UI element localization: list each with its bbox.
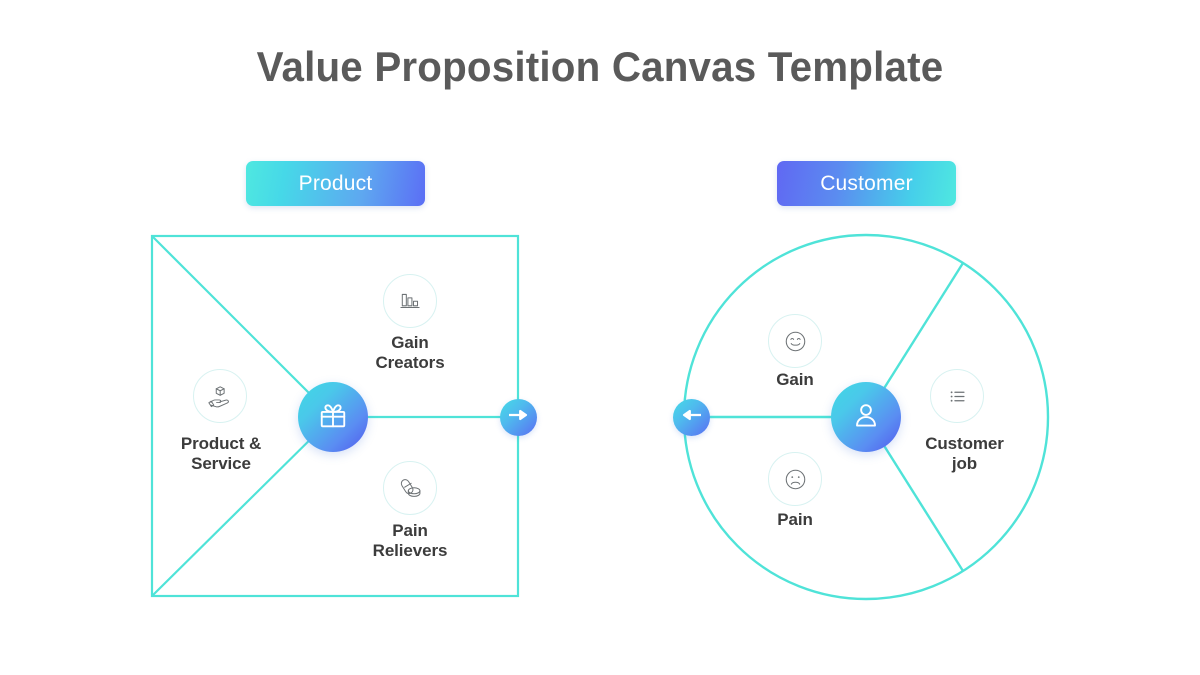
list-icon — [944, 383, 971, 410]
label-customer-job-line2: job — [886, 454, 1043, 474]
label-product-service: Product & Service — [141, 434, 301, 474]
label-gain: Gain — [728, 370, 862, 390]
label-customer-job: Customer job — [886, 434, 1043, 474]
product-hub[interactable] — [298, 382, 368, 452]
label-product-service-line1: Product & — [141, 434, 301, 454]
hand-holding-box-icon — [205, 381, 235, 411]
section-pill-customer[interactable]: Customer — [777, 161, 956, 206]
user-icon — [851, 400, 881, 435]
label-gain-line1: Gain — [728, 370, 862, 390]
label-pain-relievers: Pain Relievers — [330, 521, 490, 561]
label-pain: Pain — [728, 510, 862, 530]
node-product-service[interactable] — [193, 369, 247, 423]
label-pain-relievers-line1: Pain — [330, 521, 490, 541]
node-gain-creators[interactable] — [383, 274, 437, 328]
node-customer-job[interactable] — [930, 369, 984, 423]
smiley-happy-icon — [781, 327, 810, 356]
node-pain[interactable] — [768, 452, 822, 506]
pills-icon — [396, 474, 425, 503]
product-to-customer-arrow[interactable] — [500, 399, 537, 436]
customer-to-product-arrow[interactable] — [673, 399, 710, 436]
node-gain[interactable] — [768, 314, 822, 368]
bar-chart-icon — [396, 287, 424, 315]
page-title: Value Proposition Canvas Template — [24, 43, 1176, 91]
diagram-lines — [0, 0, 1200, 675]
node-pain-relievers[interactable] — [383, 461, 437, 515]
label-product-service-line2: Service — [141, 454, 301, 474]
label-pain-line1: Pain — [728, 510, 862, 530]
smiley-sad-icon — [781, 465, 810, 494]
slide-canvas: Value Proposition Canvas Template Produc… — [0, 0, 1200, 675]
gift-icon — [318, 400, 348, 435]
label-customer-job-line1: Customer — [886, 434, 1043, 454]
arrow-left-icon — [682, 408, 701, 427]
section-pill-product[interactable]: Product — [246, 161, 425, 206]
label-gain-creators-line1: Gain — [330, 333, 490, 353]
label-gain-creators: Gain Creators — [330, 333, 490, 373]
arrow-right-icon — [509, 408, 528, 427]
label-pain-relievers-line2: Relievers — [330, 541, 490, 561]
label-gain-creators-line2: Creators — [330, 353, 490, 373]
